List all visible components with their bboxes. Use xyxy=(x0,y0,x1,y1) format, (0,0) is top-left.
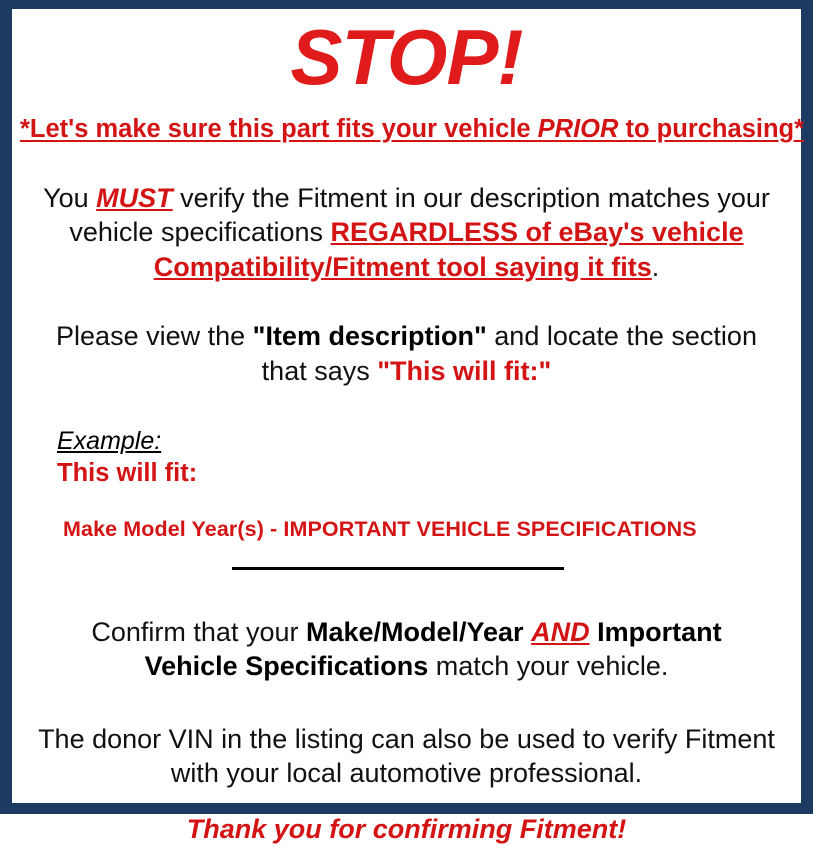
donor-vin-paragraph: The donor VIN in the listing can also be… xyxy=(20,722,793,791)
confirm-paragraph: Confirm that your Make/Model/Year AND Im… xyxy=(20,615,793,684)
confirm-part-2: match your vehicle. xyxy=(428,651,668,681)
thank-you-line: Thank you for confirming Fitment! xyxy=(20,813,793,845)
separator-wrapper xyxy=(20,567,793,579)
must-part-1: You xyxy=(43,183,96,213)
example-spec-line: Make Model Year(s) - IMPORTANT VEHICLE S… xyxy=(63,517,793,543)
must-part-3: . xyxy=(652,252,660,282)
make-model-year-emphasis: Make/Model/Year xyxy=(306,617,524,647)
tagline-suffix: to purchasing* xyxy=(618,115,804,143)
this-will-fit-emphasis: "This will fit:" xyxy=(377,356,551,386)
horizontal-rule-divider xyxy=(232,567,564,570)
fitment-tagline: *Let's make sure this part fits your veh… xyxy=(20,115,793,144)
stop-headline: STOP! xyxy=(20,9,793,99)
must-emphasis: MUST xyxy=(96,183,173,213)
confirm-space-1 xyxy=(524,617,532,647)
example-label: Example: xyxy=(57,426,161,456)
tagline-prefix: *Let's make sure this part fits your veh… xyxy=(20,115,538,143)
tagline-emphasis-prior: PRIOR xyxy=(538,115,619,143)
fitment-notice-body: STOP! *Let's make sure this part fits yo… xyxy=(12,9,801,803)
example-block: Example: This will fit: Make Model Year(… xyxy=(20,426,793,542)
and-emphasis: AND xyxy=(531,617,590,647)
must-verify-paragraph: You MUST verify the Fitment in our descr… xyxy=(20,181,793,285)
fitment-notice-frame: STOP! *Let's make sure this part fits yo… xyxy=(0,0,813,814)
confirm-part-1: Confirm that your xyxy=(91,617,306,647)
view-part-1: Please view the xyxy=(56,321,253,351)
example-fit-heading: This will fit: xyxy=(57,458,793,489)
item-description-emphasis: "Item description" xyxy=(253,321,487,351)
item-description-paragraph: Please view the "Item description" and l… xyxy=(20,319,793,388)
confirm-space-2 xyxy=(590,617,598,647)
